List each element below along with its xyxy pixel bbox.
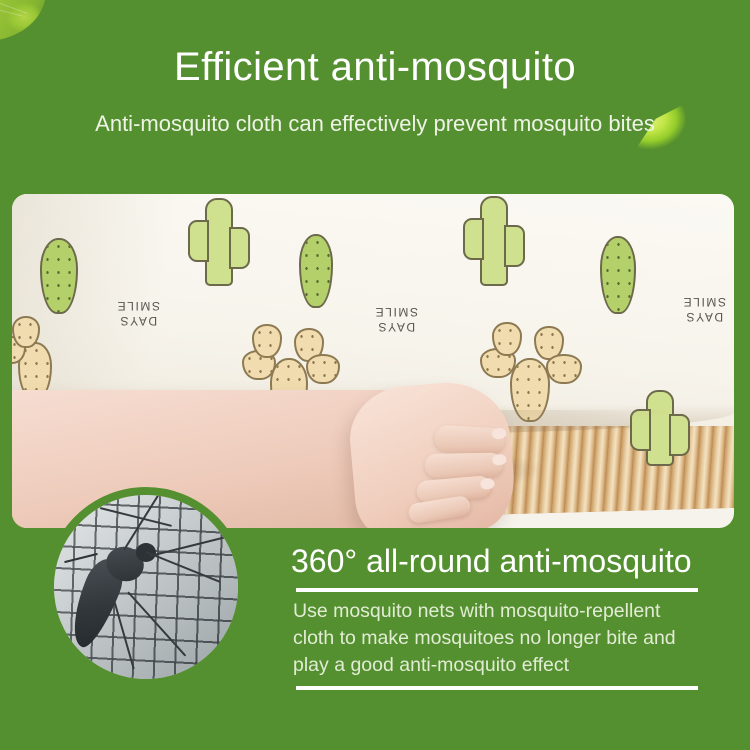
feature-description: Use mosquito nets with mosquito-repellen… <box>293 598 713 679</box>
divider-top <box>296 588 698 592</box>
fingernail <box>492 454 507 466</box>
feature-description-line: play a good anti-mosquito effect <box>293 652 713 679</box>
fabric-brand-mark: DAYS SMILE <box>672 294 734 324</box>
finger <box>407 495 471 524</box>
fingernail <box>480 478 495 490</box>
divider-bottom <box>296 686 698 690</box>
feature-description-line: Use mosquito nets with mosquito-repellen… <box>293 598 713 625</box>
leaf-icon-top-left <box>0 0 51 41</box>
photo-lighting-overlay <box>54 495 238 679</box>
header-banner <box>0 0 750 193</box>
cactus-icon <box>299 234 333 308</box>
cactus-icon <box>600 236 636 314</box>
fabric-brand-mark: DAYS SMILE <box>364 304 428 334</box>
cactus-icon <box>632 390 688 462</box>
mosquito-on-net-photo <box>46 487 246 687</box>
page-title: Efficient anti-mosquito <box>0 44 750 90</box>
hero-product-photo: DAYS SMILE DAYS SMILE DAYS SMILE <box>12 194 734 528</box>
page-subtitle: Anti-mosquito cloth can effectively prev… <box>0 110 750 138</box>
cactus-icon <box>190 198 248 282</box>
feature-description-line: cloth to make mosquitoes no longer bite … <box>293 625 713 652</box>
hand <box>346 377 518 528</box>
fabric-brand-mark: DAYS SMILE <box>106 298 170 328</box>
cactus-icon <box>465 196 523 282</box>
finger <box>424 453 502 478</box>
cactus-icon <box>40 238 78 314</box>
feature-heading: 360° all-round anti-mosquito <box>291 541 692 581</box>
product-marketing-poster: Efficient anti-mosquito Anti-mosquito cl… <box>0 0 750 750</box>
